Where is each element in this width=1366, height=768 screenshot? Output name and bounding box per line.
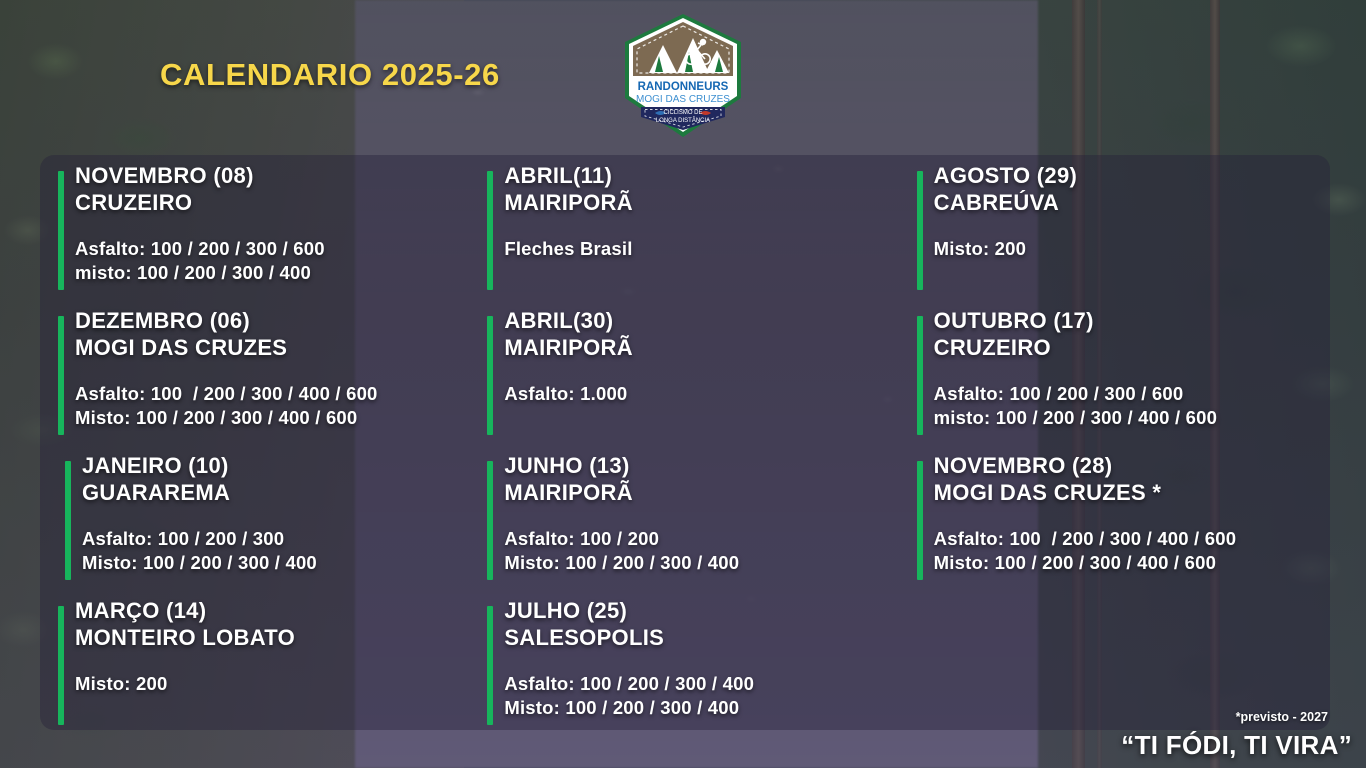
distance-line: Asfalto: 100 / 200 / 300 [82,527,465,552]
event-distances: Fleches Brasil [504,237,894,262]
slogan: “TI FÓDI, TI VIRA” [1121,730,1352,761]
distance-line: Asfalto: 100 / 200 / 300 / 600 [934,382,1324,407]
distance-line: Asfalto: 100 / 200 / 300 / 600 [75,237,465,262]
event-month: AGOSTO (29) [934,163,1324,190]
accent-bar [58,316,64,435]
event-city: MAIRIPORÃ [504,335,894,362]
distance-line: Misto: 100 / 200 / 300 / 400 / 600 [934,551,1324,576]
calendar-column-3: AGOSTO (29) CABREÚVA Misto: 200 OUTUBRO … [917,163,1324,743]
event-card[interactable]: NOVEMBRO (08) CRUZEIRO Asfalto: 100 / 20… [58,163,465,308]
event-city: CABREÚVA [934,190,1324,217]
page-title: CALENDARIO 2025-26 [160,57,500,93]
distance-line: Misto: 200 [934,237,1324,262]
event-month: DEZEMBRO (06) [75,308,465,335]
event-card[interactable]: JULHO (25) SALESOPOLIS Asfalto: 100 / 20… [487,598,894,743]
event-city: GUARAREMA [82,480,465,507]
distance-line: Fleches Brasil [504,237,894,262]
event-city: MAIRIPORÃ [504,190,894,217]
accent-bar [487,316,493,435]
distance-line: Misto: 100 / 200 / 300 / 400 / 600 [75,406,465,431]
logo-line4: LONGA DISTÂNCIA [656,117,710,124]
event-card[interactable]: ABRIL(11) MAIRIPORÃ Fleches Brasil [487,163,894,308]
event-card[interactable]: OUTUBRO (17) CRUZEIRO Asfalto: 100 / 200… [917,308,1324,453]
event-card[interactable]: AGOSTO (29) CABREÚVA Misto: 200 [917,163,1324,308]
calendar-panel: NOVEMBRO (08) CRUZEIRO Asfalto: 100 / 20… [40,155,1330,730]
accent-bar [917,461,923,580]
distance-line: Asfalto: 100 / 200 / 300 / 400 / 600 [934,527,1324,552]
event-distances: Asfalto: 100 / 200 Misto: 100 / 200 / 30… [504,527,894,577]
event-distances: Asfalto: 100 / 200 / 300 / 600 misto: 10… [934,382,1324,432]
distance-line: Misto: 100 / 200 / 300 / 400 [504,696,894,721]
event-distances: Asfalto: 100 / 200 / 300 / 400 / 600 Mis… [934,527,1324,577]
accent-bar [487,461,493,580]
event-month: OUTUBRO (17) [934,308,1324,335]
distance-line: Asfalto: 1.000 [504,382,894,407]
distance-line: Asfalto: 100 / 200 [504,527,894,552]
event-distances: Misto: 200 [75,672,465,697]
event-card[interactable]: DEZEMBRO (06) MOGI DAS CRUZES Asfalto: 1… [58,308,465,453]
calendar-grid: NOVEMBRO (08) CRUZEIRO Asfalto: 100 / 20… [40,155,1330,730]
event-city: MAIRIPORÃ [504,480,894,507]
randonneurs-badge-logo: RANDONNEURS MOGI DAS CRUZES CICLISMO DE … [619,12,747,139]
event-card[interactable]: JUNHO (13) MAIRIPORÃ Asfalto: 100 / 200 … [487,453,894,598]
header: CALENDARIO 2025-26 [0,0,1366,155]
calendar-column-2: ABRIL(11) MAIRIPORÃ Fleches Brasil ABRIL… [487,163,894,743]
event-city: SALESOPOLIS [504,625,894,652]
event-card[interactable]: ABRIL(30) MAIRIPORÃ Asfalto: 1.000 [487,308,894,453]
event-distances: Misto: 200 [934,237,1324,262]
accent-bar [487,606,493,725]
distance-line: Asfalto: 100 / 200 / 300 / 400 / 600 [75,382,465,407]
accent-bar [58,606,64,725]
event-month: NOVEMBRO (28) [934,453,1324,480]
event-distances: Asfalto: 100 / 200 / 300 / 400 Misto: 10… [504,672,894,722]
distance-line: Misto: 100 / 200 / 300 / 400 [82,551,465,576]
calendar-column-1: NOVEMBRO (08) CRUZEIRO Asfalto: 100 / 20… [58,163,465,743]
event-card[interactable]: JANEIRO (10) GUARAREMA Asfalto: 100 / 20… [58,453,465,598]
event-month: JANEIRO (10) [82,453,465,480]
accent-bar [917,316,923,435]
distance-line: Misto: 200 [75,672,465,697]
event-month: ABRIL(11) [504,163,894,190]
event-month: JUNHO (13) [504,453,894,480]
event-distances: Asfalto: 100 / 200 / 300 / 400 / 600 Mis… [75,382,465,432]
event-month: ABRIL(30) [504,308,894,335]
event-distances: Asfalto: 1.000 [504,382,894,407]
accent-bar [65,461,71,580]
accent-bar [58,171,64,290]
event-city: CRUZEIRO [934,335,1324,362]
event-distances: Asfalto: 100 / 200 / 300 Misto: 100 / 20… [82,527,465,577]
distance-line: misto: 100 / 200 / 300 / 400 [75,261,465,286]
event-card[interactable]: NOVEMBRO (28) MOGI DAS CRUZES * Asfalto:… [917,453,1324,598]
logo-line2: MOGI DAS CRUZES [636,94,730,105]
event-distances: Asfalto: 100 / 200 / 300 / 600 misto: 10… [75,237,465,287]
distance-line: Misto: 100 / 200 / 300 / 400 [504,551,894,576]
accent-bar [487,171,493,290]
event-month: NOVEMBRO (08) [75,163,465,190]
event-card[interactable]: MARÇO (14) MONTEIRO LOBATO Misto: 200 [58,598,465,743]
logo-line1: RANDONNEURS [638,81,729,93]
event-month: MARÇO (14) [75,598,465,625]
event-city: MOGI DAS CRUZES [75,335,465,362]
distance-line: misto: 100 / 200 / 300 / 400 / 600 [934,406,1324,431]
event-city: MONTEIRO LOBATO [75,625,465,652]
logo-line3: CICLISMO DE [663,110,702,116]
footnote: *previsto - 2027 [1236,710,1328,724]
event-month: JULHO (25) [504,598,894,625]
event-city: CRUZEIRO [75,190,465,217]
event-city: MOGI DAS CRUZES * [934,480,1324,507]
distance-line: Asfalto: 100 / 200 / 300 / 400 [504,672,894,697]
accent-bar [917,171,923,290]
